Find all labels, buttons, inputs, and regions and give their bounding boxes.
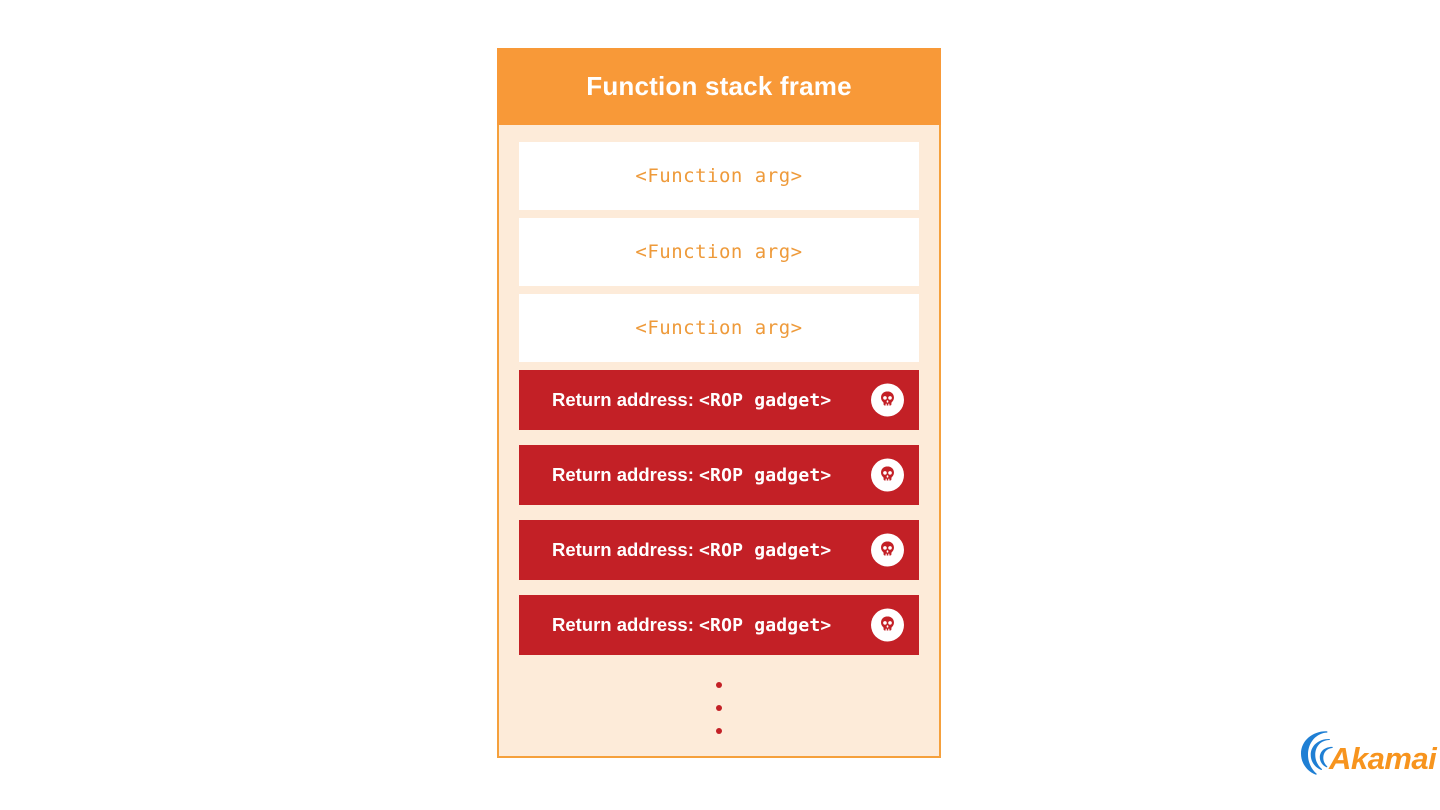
function-stack-frame-diagram: Function stack frame <Function arg> <Fun… — [497, 48, 941, 758]
stack-slot-return-address: Return address: <ROP gadget> — [519, 370, 919, 430]
vertical-ellipsis — [519, 682, 919, 734]
frame-body: <Function arg> <Function arg> <Function … — [497, 125, 941, 758]
frame-header: Function stack frame — [497, 48, 941, 125]
rop-gadget-text: <ROP gadget> — [699, 390, 831, 411]
page-title: Function stack frame — [586, 71, 852, 102]
ellipsis-dot — [716, 728, 722, 734]
return-address-prefix: Return address: — [552, 389, 699, 410]
rop-gadget-text: <ROP gadget> — [699, 540, 831, 561]
rop-gadget-text: <ROP gadget> — [699, 615, 831, 636]
akamai-logo: Akamai — [1296, 728, 1422, 780]
stack-slot-label: Return address: <ROP gadget> — [552, 614, 831, 636]
skull-icon — [871, 534, 904, 567]
stack-slot-return-address: Return address: <ROP gadget> — [519, 445, 919, 505]
ellipsis-dot — [716, 682, 722, 688]
skull-icon — [871, 459, 904, 492]
return-address-prefix: Return address: — [552, 464, 699, 485]
return-address-prefix: Return address: — [552, 539, 699, 560]
stack-slot-label: Return address: <ROP gadget> — [552, 464, 831, 486]
stack-slot-function-arg: <Function arg> — [519, 142, 919, 210]
stack-slot-return-address: Return address: <ROP gadget> — [519, 595, 919, 655]
stack-slot-label: <Function arg> — [635, 165, 802, 187]
ellipsis-dot — [716, 705, 722, 711]
stack-slot-function-arg: <Function arg> — [519, 294, 919, 362]
stack-slot-label: Return address: <ROP gadget> — [552, 539, 831, 561]
return-address-prefix: Return address: — [552, 614, 699, 635]
stack-slot-return-address: Return address: <ROP gadget> — [519, 520, 919, 580]
rop-gadget-text: <ROP gadget> — [699, 465, 831, 486]
skull-icon — [871, 609, 904, 642]
stack-slot-label: <Function arg> — [635, 241, 802, 263]
skull-icon — [871, 384, 904, 417]
akamai-wordmark: Akamai — [1329, 741, 1436, 777]
stack-slot-function-arg: <Function arg> — [519, 218, 919, 286]
stack-slot-label: Return address: <ROP gadget> — [552, 389, 831, 411]
stack-slot-label: <Function arg> — [635, 317, 802, 339]
